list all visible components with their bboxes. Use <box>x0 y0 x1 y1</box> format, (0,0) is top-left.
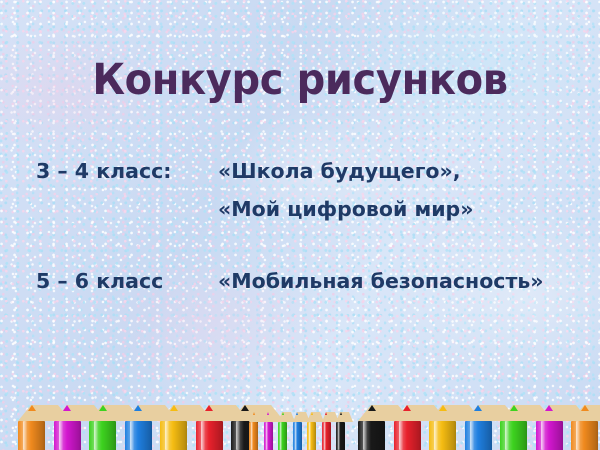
pencil-left-6 <box>196 405 223 450</box>
pencil-barrel <box>429 421 456 450</box>
pencil-lead-icon <box>99 405 107 411</box>
pencil-barrel <box>571 421 598 450</box>
pencil-middle-6 <box>322 412 331 450</box>
pencil-lead-icon <box>296 412 298 415</box>
pencil-right-1 <box>358 405 385 450</box>
pencil-barrel <box>322 422 331 450</box>
pencil-barrel <box>18 421 45 450</box>
pencil-left-2 <box>54 405 81 450</box>
pencil-barrel <box>336 422 345 450</box>
pencil-left-3 <box>89 405 116 450</box>
pencil-barrel <box>465 421 492 450</box>
theme-title-mobile-security: «Мобильная безопасность» <box>218 262 576 300</box>
pencil-lead-icon <box>474 405 482 411</box>
pencil-barrel <box>125 421 152 450</box>
pencil-lead-icon <box>253 412 255 415</box>
grade-label-5-6: 5 – 6 класс <box>36 262 218 300</box>
pencil-barrel <box>54 421 81 450</box>
pencil-barrel <box>394 421 421 450</box>
pencil-lead-icon <box>325 412 327 415</box>
pencil-right-7 <box>571 405 598 450</box>
pencil-middle-2 <box>264 412 273 450</box>
pencil-left-5 <box>160 405 187 450</box>
pencil-lead-icon <box>439 405 447 411</box>
pencil-barrel <box>196 421 223 450</box>
row-spacer <box>36 228 576 262</box>
content-row-grade-3-4: 3 – 4 класс: «Школа будущего», <box>36 152 576 190</box>
grade-label-3-4: 3 – 4 класс: <box>36 152 218 190</box>
content-row-grade-3-4-second-theme: «Мой цифровой мир» <box>36 190 576 228</box>
pencil-lead-icon <box>510 405 518 411</box>
pencil-lead-icon <box>28 405 36 411</box>
pencil-barrel <box>307 422 316 450</box>
pencil-lead-icon <box>241 405 249 411</box>
pencil-lead-icon <box>311 412 313 415</box>
pencil-barrel <box>293 422 302 450</box>
pencil-right-4 <box>465 405 492 450</box>
pencil-middle-3 <box>278 412 287 450</box>
pencil-lead-icon <box>170 405 178 411</box>
theme-title-school-of-the-future: «Школа будущего», <box>218 152 576 190</box>
pencil-left-4 <box>125 405 152 450</box>
pencil-barrel <box>89 421 116 450</box>
pencil-middle-5 <box>307 412 316 450</box>
pencil-lead-icon <box>205 405 213 411</box>
pencil-lead-icon <box>545 405 553 411</box>
theme-title-my-digital-world: «Мой цифровой мир» <box>218 190 576 228</box>
pencil-barrel <box>264 422 273 450</box>
pencil-middle-7 <box>336 412 345 450</box>
pencil-lead-icon <box>282 412 284 415</box>
pencil-lead-icon <box>403 405 411 411</box>
pencil-lead-icon <box>134 405 142 411</box>
pencil-lead-icon <box>368 405 376 411</box>
page-title: Конкурс рисунков <box>21 55 579 105</box>
pencil-barrel <box>249 422 258 450</box>
content-list: 3 – 4 класс: «Школа будущего», «Мой цифр… <box>36 152 576 300</box>
pencil-lead-icon <box>581 405 589 411</box>
pencil-barrel <box>278 422 287 450</box>
pencil-barrel <box>160 421 187 450</box>
colored-pencil-border <box>0 402 600 450</box>
pencil-right-5 <box>500 405 527 450</box>
pencil-barrel <box>500 421 527 450</box>
pencil-middle-1 <box>249 412 258 450</box>
pencil-barrel <box>536 421 563 450</box>
pencil-right-3 <box>429 405 456 450</box>
pencil-left-1 <box>18 405 45 450</box>
pencil-middle-4 <box>293 412 302 450</box>
pencil-right-6 <box>536 405 563 450</box>
pencil-lead-icon <box>340 412 342 415</box>
pencil-right-2 <box>394 405 421 450</box>
presentation-slide: Конкурс рисунков 3 – 4 класс: «Школа буд… <box>0 0 600 450</box>
pencil-barrel <box>358 421 385 450</box>
pencil-lead-icon <box>63 405 71 411</box>
content-row-grade-5-6: 5 – 6 класс «Мобильная безопасность» <box>36 262 576 300</box>
pencil-lead-icon <box>267 412 269 415</box>
